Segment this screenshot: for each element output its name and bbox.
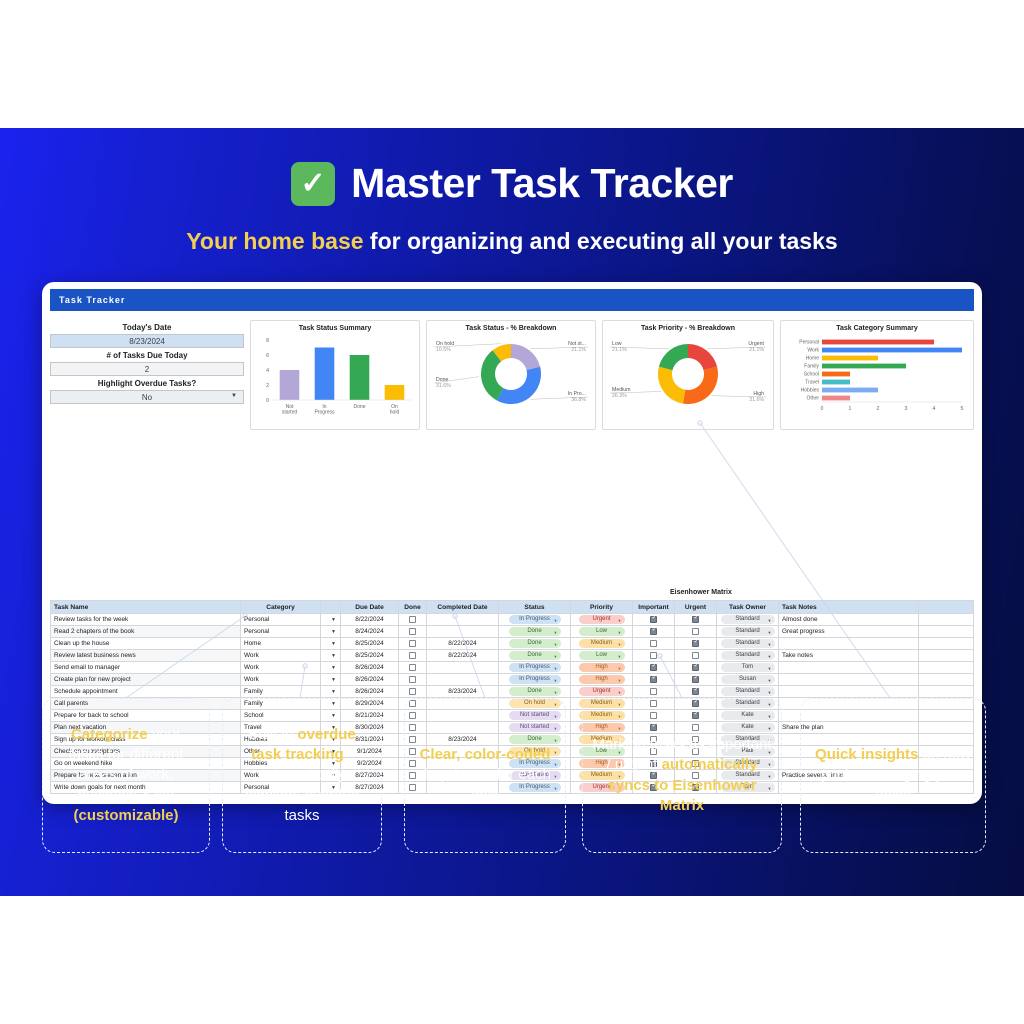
cell-task-name[interactable]: Send email to manager [51,662,241,674]
category-dropdown-arrow[interactable]: ▼ [321,662,341,674]
category-dropdown-arrow[interactable]: ▼ [321,650,341,662]
cell-due-date[interactable]: 8/26/2024 [341,662,399,674]
important-checkbox[interactable] [650,616,657,623]
callout-colorcoded: Clear, color-coded dropdowns for each ta… [404,698,566,853]
cell-completed-date[interactable]: 8/22/2024 [427,650,499,662]
owner-pill[interactable]: Standard [721,651,775,660]
cell-task-name[interactable]: Clean up the house [51,638,241,650]
svg-text:21.1%: 21.1% [749,347,764,353]
cell-category[interactable]: Work [241,662,321,674]
donut-chart-svg: Urgent21.1%High31.6%Medium26.3%Low21.1% [606,334,770,420]
checkmark-icon: ✓ [291,162,335,206]
cell-status[interactable]: In Progress [499,662,571,674]
done-checkbox[interactable] [409,652,416,659]
cell-status[interactable]: In Progress [499,614,571,626]
cell-category[interactable]: Family [241,686,321,698]
cell-urgent[interactable] [675,614,717,626]
cell-due-date[interactable]: 8/26/2024 [341,686,399,698]
column-header-urgent[interactable]: Urgent [675,601,717,614]
cell-completed-date[interactable]: 8/22/2024 [427,638,499,650]
status-pill[interactable]: Done [509,687,561,696]
owner-pill[interactable]: Standard [721,687,775,696]
owner-pill[interactable]: Standard [721,615,775,624]
svg-text:31.6%: 31.6% [436,383,451,389]
tasks-due-today-field: 2 [50,362,244,376]
cell-done[interactable] [399,662,427,674]
status-pill[interactable]: In Progress [509,615,561,624]
svg-text:10.5%: 10.5% [436,347,451,353]
important-checkbox[interactable] [650,652,657,659]
dashboard-strip: Today's Date 8/23/2024 # of Tasks Due To… [42,311,982,430]
cell-blank [919,686,974,698]
chart-title: Task Status - % Breakdown [430,325,592,332]
svg-text:Family: Family [804,364,819,370]
cell-task-owner[interactable]: Standard [717,650,779,662]
subtitle-highlight: Your home base [186,228,363,254]
page-subtitle: Your home base for organizing and execut… [0,228,1024,255]
column-header-category[interactable]: Category [241,601,321,614]
callout-text: Clear, color-coded dropdowns for each ta… [414,745,556,806]
cell-completed-date[interactable] [427,614,499,626]
chart-title: Task Category Summary [784,325,970,332]
cell-important[interactable] [633,614,675,626]
cell-completed-date[interactable] [427,662,499,674]
svg-text:Work: Work [807,348,819,354]
urgent-checkbox[interactable] [692,652,699,659]
important-checkbox[interactable] [650,688,657,695]
page-title: Master Task Tracker [351,160,733,207]
cell-status[interactable]: Done [499,650,571,662]
chart-task-status-summary: Task Status Summary 02468NotstartedInPro… [250,320,420,430]
highlight-overdue-dropdown[interactable]: No [50,390,244,404]
cell-task-name[interactable]: Schedule appointment [51,686,241,698]
cell-blank [919,638,974,650]
cell-due-date[interactable]: 8/25/2024 [341,638,399,650]
cell-urgent[interactable] [675,674,717,686]
owner-pill[interactable]: Standard [721,639,775,648]
chart-title: Task Status Summary [254,325,416,332]
cell-urgent[interactable] [675,686,717,698]
cell-priority[interactable]: High [571,662,633,674]
urgent-checkbox[interactable] [692,616,699,623]
column-header-task-notes[interactable]: Task Notes [779,601,919,614]
svg-text:Home: Home [806,356,820,362]
svg-text:3: 3 [905,406,908,412]
callout-insights: Quick insights on how you're managing yo… [800,698,986,853]
column-header-completed-date[interactable]: Completed Date [427,601,499,614]
column-header-status[interactable]: Status [499,601,571,614]
column-header-due-date[interactable]: Due Date [341,601,399,614]
urgent-checkbox[interactable] [692,628,699,635]
priority-pill[interactable]: High [579,675,625,684]
callout-categorize: Categorize your tasks for different area… [42,698,210,853]
chart-task-status-breakdown: Task Status - % Breakdown Not st...21.1%… [426,320,596,430]
control-label-0: Today's Date [50,320,244,334]
svg-text:1: 1 [849,406,852,412]
column-header-blank[interactable] [919,601,974,614]
table-row[interactable]: Review latest business newsWork▼8/25/202… [51,650,974,662]
callout-text: Quick insights on how you're managing yo… [810,745,976,806]
cell-task-notes[interactable]: Take notes [779,650,919,662]
done-checkbox[interactable] [409,628,416,635]
svg-text:31.6%: 31.6% [749,397,764,403]
cell-task-notes[interactable] [779,686,919,698]
important-checkbox[interactable] [650,628,657,635]
cell-task-owner[interactable]: Susan [717,674,779,686]
hbar-chart-svg: 012345PersonalWorkHomeFamilySchoolTravel… [784,334,970,420]
svg-text:Travel: Travel [805,380,819,386]
svg-text:26.3%: 26.3% [612,393,627,399]
cell-task-owner[interactable]: Standard [717,638,779,650]
bar-chart-svg: 02468NotstartedInProgressDoneOnhold [254,334,416,420]
cell-due-date[interactable]: 8/25/2024 [341,650,399,662]
cell-task-notes[interactable] [779,674,919,686]
priority-pill[interactable]: Low [579,651,625,660]
cell-due-date[interactable]: 8/26/2024 [341,674,399,686]
svg-text:36.8%: 36.8% [571,397,586,403]
cell-urgent[interactable] [675,650,717,662]
cell-category[interactable]: Work [241,650,321,662]
status-pill[interactable]: In Progress [509,675,561,684]
cell-category[interactable]: Home [241,638,321,650]
svg-text:0: 0 [266,398,269,404]
owner-pill[interactable]: Susan [721,675,775,684]
cell-priority[interactable]: Urgent [571,686,633,698]
column-header-done[interactable]: Done [399,601,427,614]
status-pill[interactable]: Done [509,639,561,648]
cell-task-notes[interactable]: Great progress [779,626,919,638]
cell-blank [919,650,974,662]
priority-pill[interactable]: Low [579,627,625,636]
cell-task-owner[interactable]: Tom [717,662,779,674]
cell-done[interactable] [399,674,427,686]
cell-due-date[interactable]: 8/22/2024 [341,614,399,626]
cell-blank [919,674,974,686]
cell-important[interactable] [633,638,675,650]
svg-text:School: School [804,372,819,378]
table-row[interactable]: Create plan for new projectWork▼8/26/202… [51,674,974,686]
callout-text: Built in overdue task tracking - automat… [232,725,372,826]
urgent-checkbox[interactable] [692,688,699,695]
cell-task-owner[interactable]: Standard [717,614,779,626]
svg-text:21.1%: 21.1% [571,347,586,353]
subtitle-rest: for organizing and executing all your ta… [364,228,838,254]
category-dropdown-arrow[interactable]: ▼ [321,626,341,638]
cell-blank [919,662,974,674]
eisenhower-matrix-label: Eisenhower Matrix [670,589,732,596]
category-dropdown-arrow[interactable]: ▼ [321,686,341,698]
cell-done[interactable] [399,638,427,650]
cell-important[interactable] [633,626,675,638]
svg-text:Progress: Progress [314,410,335,416]
priority-pill[interactable]: Urgent [579,615,625,624]
cell-urgent[interactable] [675,638,717,650]
cell-due-date[interactable]: 8/24/2024 [341,626,399,638]
control-label-1: # of Tasks Due Today [50,348,244,362]
category-dropdown-arrow[interactable]: ▼ [321,614,341,626]
cell-urgent[interactable] [675,626,717,638]
svg-text:0: 0 [821,406,824,412]
cell-completed-date[interactable]: 8/23/2024 [427,686,499,698]
cell-important[interactable] [633,662,675,674]
cell-task-owner[interactable]: Standard [717,626,779,638]
cell-done[interactable] [399,626,427,638]
cell-category[interactable]: Work [241,674,321,686]
priority-pill[interactable]: High [579,663,625,672]
urgent-checkbox[interactable] [692,664,699,671]
table-row[interactable]: Send email to managerWork▼8/26/2024In Pr… [51,662,974,674]
callout-overdue: Built in overdue task tracking - automat… [222,698,382,853]
cell-status[interactable]: Done [499,626,571,638]
priority-pill[interactable]: Urgent [579,687,625,696]
svg-text:5: 5 [961,406,964,412]
done-checkbox[interactable] [409,664,416,671]
cell-task-name[interactable]: Read 2 chapters of the book [51,626,241,638]
svg-text:Other: Other [806,396,819,402]
title-row: ✓ Master Task Tracker [0,160,1024,207]
promo-banner: ✓ Master Task Tracker Your home base for… [0,128,1024,896]
table-row[interactable]: Clean up the houseHome▼8/25/20248/22/202… [51,638,974,650]
owner-pill[interactable]: Standard [721,627,775,636]
cell-important[interactable] [633,650,675,662]
owner-pill[interactable]: Tom [721,663,775,672]
donut-chart-svg: Not st...21.1%In Pro...36.8%Done31.6%On … [430,334,592,420]
callout-text: Categorize your tasks for different area… [52,725,200,826]
cell-completed-date[interactable] [427,674,499,686]
todays-date-field[interactable]: 8/23/2024 [50,334,244,348]
svg-text:8: 8 [266,338,269,344]
svg-text:4: 4 [933,406,936,412]
status-pill[interactable]: In Progress [509,663,561,672]
svg-text:21.1%: 21.1% [612,347,627,353]
urgent-checkbox[interactable] [692,640,699,647]
done-checkbox[interactable] [409,688,416,695]
column-header-task-name[interactable]: Task Name [51,601,241,614]
cell-completed-date[interactable] [427,626,499,638]
urgent-checkbox[interactable] [692,676,699,683]
callout-eisenhower: Marking tasks as important / urgent auto… [582,698,782,853]
table-row[interactable]: Schedule appointmentFamily▼8/26/20248/23… [51,686,974,698]
control-label-2: Highlight Overdue Tasks? [50,376,244,390]
cell-task-owner[interactable]: Standard [717,686,779,698]
cell-task-notes[interactable] [779,638,919,650]
cell-important[interactable] [633,686,675,698]
svg-text:6: 6 [266,353,269,359]
cell-priority[interactable]: Low [571,650,633,662]
svg-text:hold: hold [390,410,400,416]
cell-priority[interactable]: High [571,674,633,686]
table-row[interactable]: Review tasks for the weekPersonal▼8/22/2… [51,614,974,626]
cell-status[interactable]: In Progress [499,674,571,686]
column-header-important[interactable]: Important [633,601,675,614]
cell-task-name[interactable]: Review latest business news [51,650,241,662]
table-row[interactable]: Read 2 chapters of the bookPersonal▼8/24… [51,626,974,638]
cell-priority[interactable]: Medium [571,638,633,650]
cell-task-name[interactable]: Review tasks for the week [51,614,241,626]
svg-text:Hobbies: Hobbies [801,388,820,394]
important-checkbox[interactable] [650,676,657,683]
priority-pill[interactable]: Medium [579,639,625,648]
cell-priority[interactable]: Low [571,626,633,638]
cell-task-name[interactable]: Create plan for new project [51,674,241,686]
cell-done[interactable] [399,614,427,626]
cell-done[interactable] [399,650,427,662]
category-dropdown-arrow[interactable]: ▼ [321,674,341,686]
cell-priority[interactable]: Urgent [571,614,633,626]
column-header-task-owner[interactable]: Task Owner [717,601,779,614]
svg-text:2: 2 [877,406,880,412]
category-dropdown-arrow[interactable]: ▼ [321,638,341,650]
table-header-row: Task NameCategoryDue DateDoneCompleted D… [51,601,974,614]
cell-done[interactable] [399,686,427,698]
cell-status[interactable]: Done [499,638,571,650]
chart-task-priority-breakdown: Task Priority - % Breakdown Urgent21.1%H… [602,320,774,430]
cell-category[interactable]: Personal [241,626,321,638]
svg-text:Done: Done [354,404,366,410]
cell-blank [919,614,974,626]
column-header-blank[interactable] [321,601,341,614]
cell-task-notes[interactable] [779,662,919,674]
sheet-tab-title: Task Tracker [50,289,974,311]
important-checkbox[interactable] [650,664,657,671]
cell-category[interactable]: Personal [241,614,321,626]
svg-text:4: 4 [266,368,269,374]
important-checkbox[interactable] [650,640,657,647]
cell-urgent[interactable] [675,662,717,674]
column-header-priority[interactable]: Priority [571,601,633,614]
controls-panel: Today's Date 8/23/2024 # of Tasks Due To… [50,320,244,430]
done-checkbox[interactable] [409,616,416,623]
chart-task-category-summary: Task Category Summary 012345PersonalWork… [780,320,974,430]
done-checkbox[interactable] [409,640,416,647]
svg-text:started: started [282,410,298,416]
cell-task-notes[interactable]: Almost done [779,614,919,626]
done-checkbox[interactable] [409,676,416,683]
callout-text: Marking tasks as important / urgent auto… [592,735,772,816]
svg-text:2: 2 [266,383,269,389]
svg-text:Personal: Personal [799,340,819,346]
cell-status[interactable]: Done [499,686,571,698]
status-pill[interactable]: Done [509,651,561,660]
cell-important[interactable] [633,674,675,686]
chart-title: Task Priority - % Breakdown [606,325,770,332]
cell-blank [919,626,974,638]
status-pill[interactable]: Done [509,627,561,636]
